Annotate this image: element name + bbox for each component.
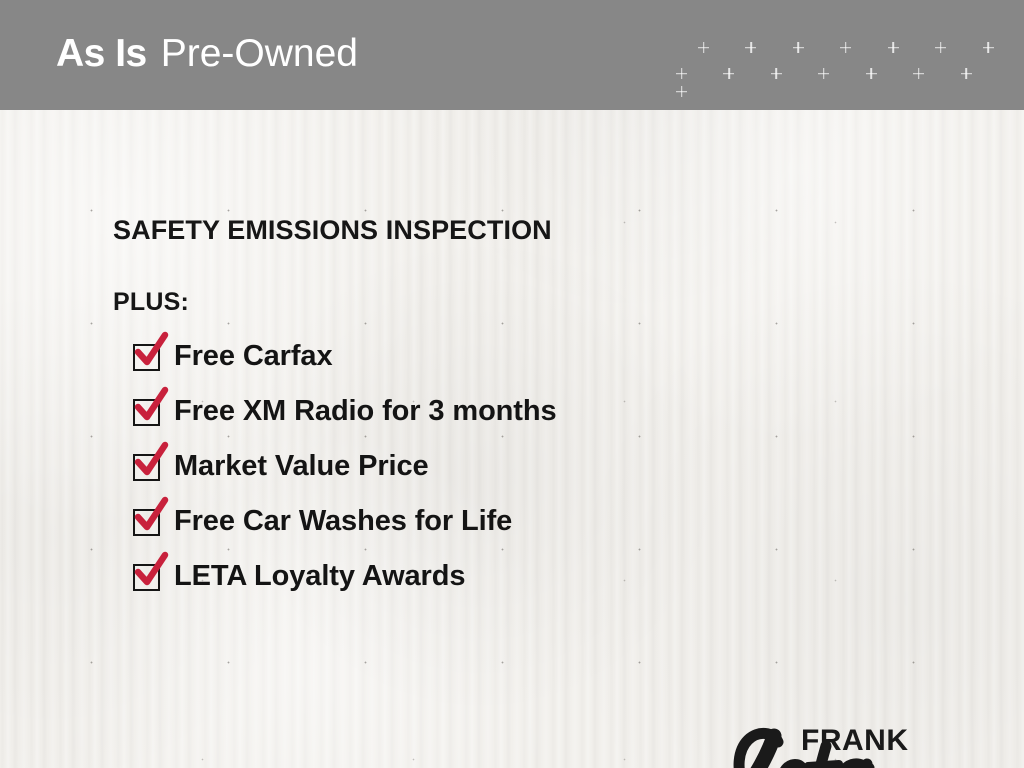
slide: As IsPre-Owned: [0, 0, 1024, 768]
checkmark-icon: [131, 386, 173, 428]
list-item-label: LETA Loyalty Awards: [174, 558, 465, 594]
plus-icon: [961, 68, 972, 79]
checkbox-checked-icon: [133, 344, 160, 371]
checkbox-checked-icon: [133, 399, 160, 426]
list-item: Market Value Price: [133, 448, 833, 503]
plus-icon: [771, 68, 782, 79]
plus-icon: [698, 42, 709, 53]
benefits-checklist: Free Carfax Free XM Radio for 3 months: [133, 338, 833, 613]
checkmark-icon: [131, 551, 173, 593]
plus-icon: [866, 68, 877, 79]
list-item-label: Market Value Price: [174, 448, 429, 484]
list-item-label: Free XM Radio for 3 months: [174, 393, 557, 429]
checkbox-checked-icon: [133, 454, 160, 481]
slide-title-light: Pre-Owned: [161, 32, 358, 75]
checkmark-icon: [131, 331, 173, 373]
plus-icon: [818, 68, 829, 79]
plus-icon: [676, 86, 687, 97]
checkbox-checked-icon: [133, 564, 160, 591]
list-item-label: Free Car Washes for Life: [174, 503, 512, 539]
plus-icon: [935, 42, 946, 53]
plus-icon: [983, 42, 994, 53]
checkmark-icon: [131, 496, 173, 538]
plus-icon: [745, 42, 756, 53]
section-heading: SAFETY EMISSIONS INSPECTION: [113, 215, 552, 246]
list-item: Free XM Radio for 3 months: [133, 393, 833, 448]
slide-content: SAFETY EMISSIONS INSPECTION PLUS: Free C…: [0, 110, 1024, 768]
plus-icon: [840, 42, 851, 53]
section-subheading: PLUS:: [113, 288, 189, 317]
list-item: Free Car Washes for Life: [133, 503, 833, 558]
plus-pattern-row-bottom: [672, 68, 1016, 88]
plus-icon: [723, 68, 734, 79]
plus-icon: [913, 68, 924, 79]
list-item: Free Carfax: [133, 338, 833, 393]
plus-icon: [793, 42, 804, 53]
plus-icon: [676, 68, 687, 79]
list-item: LETA Loyalty Awards: [133, 558, 833, 613]
logo-brand-top: FRANK: [801, 724, 909, 757]
header-bar: As IsPre-Owned: [0, 0, 1024, 110]
plus-icon: [888, 42, 899, 53]
slide-title: As IsPre-Owned: [56, 34, 358, 73]
plus-pattern-decoration: [672, 38, 1012, 94]
list-item-label: Free Carfax: [174, 338, 333, 374]
checkmark-icon: [131, 441, 173, 483]
plus-pattern-row-top: [672, 42, 1024, 62]
slide-title-strong: As Is: [56, 32, 147, 75]
frank-leta-logo: FRANK: [700, 714, 920, 768]
checkbox-checked-icon: [133, 509, 160, 536]
